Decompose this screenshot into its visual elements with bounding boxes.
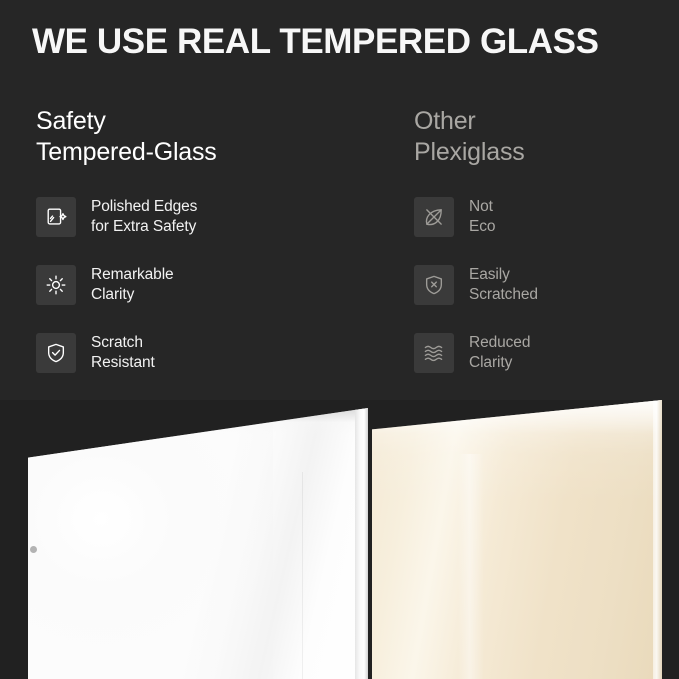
shield-check-icon [36,333,76,373]
wavy-lines-icon [414,333,454,373]
tempered-glass-panel-top-bevel [28,408,368,434]
feature-label: Easily Scratched [469,265,538,304]
feature-label: Scratch Resistant [91,333,155,372]
page-title: WE USE REAL TEMPERED GLASS [32,22,599,62]
product-photo [0,400,679,679]
tempered-glass-panel [28,408,368,679]
feature-reduced-clarity: Reduced Clarity [414,330,679,376]
feature-label: Not Eco [469,197,495,236]
feature-easily-scratched: Easily Scratched [414,262,679,308]
feature-scratch-resistant: Scratch Resistant [36,330,336,376]
plexiglass-panel-right-bevel [653,400,662,679]
tempered-glass-panel-inner-line [302,472,303,679]
column-safety-tempered-glass: Safety Tempered-Glass Polished Edges for… [36,106,336,376]
tempered-glass-panel-edge-strip [355,408,368,679]
tempered-glass-panel-corner-mark [30,546,37,553]
shield-x-icon [414,265,454,305]
sun-brightness-icon [36,265,76,305]
tempered-glass-comparison-infographic: WE USE REAL TEMPERED GLASS Safety Temper… [0,0,679,679]
feature-polished-edges: Polished Edges for Extra Safety [36,194,336,240]
column-other-plexiglass: Other Plexiglass Not Eco [414,106,679,376]
tempered-glass-panel-glare [28,408,273,679]
leaf-crossed-out-icon [414,197,454,237]
column-title-right: Other Plexiglass [414,106,679,168]
plexiglass-panel-sheen [458,454,484,679]
polished-edge-sparkle-icon [36,197,76,237]
feature-label: Remarkable Clarity [91,265,174,304]
comparison-columns: Safety Tempered-Glass Polished Edges for… [0,106,679,406]
feature-not-eco: Not Eco [414,194,679,240]
feature-label: Polished Edges for Extra Safety [91,197,197,236]
feature-remarkable-clarity: Remarkable Clarity [36,262,336,308]
feature-label: Reduced Clarity [469,333,530,372]
column-title-left: Safety Tempered-Glass [36,106,336,168]
plexiglass-panel-top-edge [372,400,662,434]
plexiglass-panel [372,400,662,679]
